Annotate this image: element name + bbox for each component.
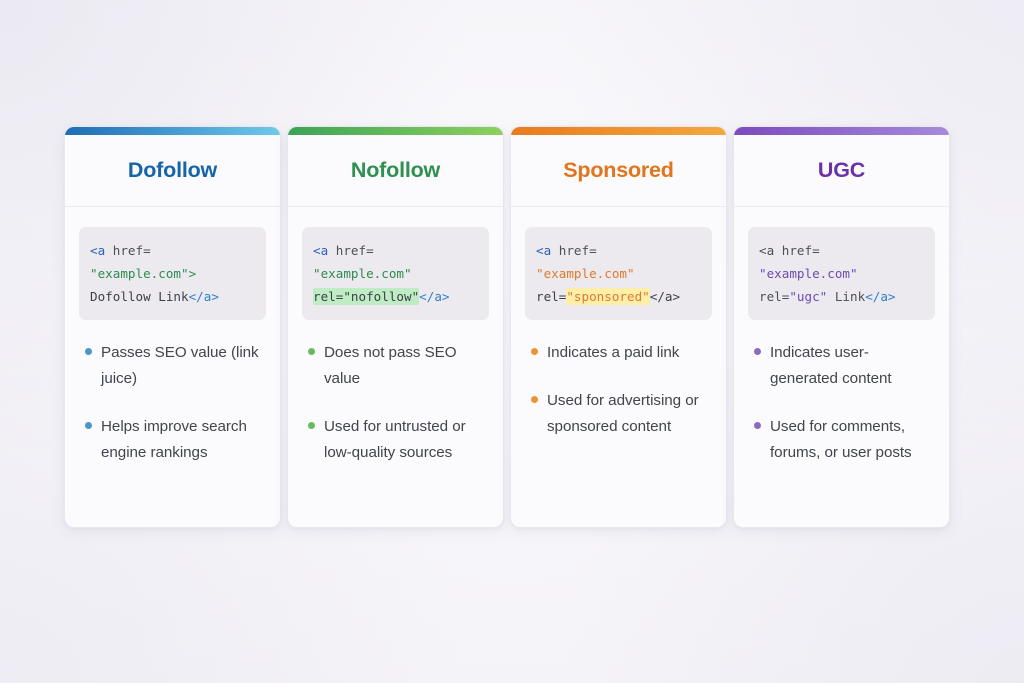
code-wrap-nofollow: <a href= "example.com"rel="nofollow"</a> xyxy=(288,207,503,336)
feature-text: Passes SEO value (link juice) xyxy=(101,340,264,392)
code-line-3: rel="sponsored"</a> xyxy=(536,285,702,308)
code-token: </a> xyxy=(189,289,219,304)
feature-list-nofollow: Does not pass SEO valueUsed for untruste… xyxy=(288,336,503,527)
feature-list-sponsored: Indicates a paid linkUsed for advertisin… xyxy=(511,336,726,527)
bullet-dot-icon xyxy=(531,396,538,403)
code-token: Dofollow Link xyxy=(90,289,189,304)
list-item: Helps improve search engine rankings xyxy=(85,414,264,466)
list-item: Indicates a paid link xyxy=(531,340,710,366)
bullet-dot-icon xyxy=(308,422,315,429)
code-line-1: <a href= xyxy=(536,239,702,262)
card-title-nofollow: Nofollow xyxy=(351,158,440,183)
link-attribute-comparison-board: Dofollow<a href= "example.com">Dofollow … xyxy=(64,126,960,528)
list-item: Passes SEO value (link juice) xyxy=(85,340,264,392)
code-snippet-sponsored: <a href= "example.com"rel="sponsored"</a… xyxy=(525,227,712,320)
code-line-3: Dofollow Link</a> xyxy=(90,285,256,308)
feature-text: Indicates user-generated content xyxy=(770,340,933,392)
code-line-1: <a href= xyxy=(759,239,925,262)
code-token: </a> xyxy=(650,289,680,304)
code-token: <a xyxy=(313,243,336,258)
card-header-dofollow: Dofollow xyxy=(65,135,280,207)
card-header-ugc: UGC xyxy=(734,135,949,207)
bullet-dot-icon xyxy=(754,422,761,429)
code-line-3: rel="nofollow"</a> xyxy=(313,285,479,308)
accent-bar-sponsored xyxy=(511,127,726,135)
accent-bar-nofollow xyxy=(288,127,503,135)
feature-text: Helps improve search engine rankings xyxy=(101,414,264,466)
list-item: Does not pass SEO value xyxy=(308,340,487,392)
code-token: Link xyxy=(827,289,865,304)
list-item: Used for advertising or sponsored conten… xyxy=(531,388,710,440)
code-line-1: <a href= xyxy=(313,239,479,262)
bullet-dot-icon xyxy=(85,422,92,429)
bullet-dot-icon xyxy=(85,348,92,355)
feature-text: Does not pass SEO value xyxy=(324,340,487,392)
card-dofollow: Dofollow<a href= "example.com">Dofollow … xyxy=(64,126,281,528)
card-nofollow: Nofollow<a href= "example.com"rel="nofol… xyxy=(287,126,504,528)
accent-bar-ugc xyxy=(734,127,949,135)
code-wrap-dofollow: <a href= "example.com">Dofollow Link</a> xyxy=(65,207,280,336)
code-token: href= xyxy=(113,243,151,258)
code-token: "example.com" xyxy=(313,266,412,281)
code-token: </a> xyxy=(865,289,895,304)
list-item: Used for untrusted or low-quality source… xyxy=(308,414,487,466)
card-header-nofollow: Nofollow xyxy=(288,135,503,207)
code-token: rel= xyxy=(536,289,566,304)
code-token: href= xyxy=(336,243,374,258)
bullet-dot-icon xyxy=(531,348,538,355)
code-line-1: <a href= xyxy=(90,239,256,262)
code-token: "ugc" xyxy=(789,289,827,304)
code-snippet-nofollow: <a href= "example.com"rel="nofollow"</a> xyxy=(302,227,489,320)
bullet-dot-icon xyxy=(308,348,315,355)
code-line-2: "example.com" xyxy=(313,262,479,285)
code-token: <a xyxy=(536,243,559,258)
feature-text: Used for advertising or sponsored conten… xyxy=(547,388,710,440)
code-token: "example.com" xyxy=(759,266,858,281)
feature-text: Indicates a paid link xyxy=(547,340,679,366)
accent-bar-dofollow xyxy=(65,127,280,135)
bullet-dot-icon xyxy=(754,348,761,355)
code-token: "sponsored" xyxy=(566,288,649,305)
code-token: </a> xyxy=(419,289,449,304)
code-token: <a href= xyxy=(759,243,820,258)
code-line-2: "example.com" xyxy=(759,262,925,285)
card-title-dofollow: Dofollow xyxy=(128,158,217,183)
code-snippet-ugc: <a href= "example.com"rel="ugc" Link</a> xyxy=(748,227,935,320)
card-sponsored: Sponsored<a href= "example.com"rel="spon… xyxy=(510,126,727,528)
code-line-2: "example.com"> xyxy=(90,262,256,285)
card-title-ugc: UGC xyxy=(818,158,865,183)
code-token: <a xyxy=(90,243,113,258)
code-line-2: "example.com" xyxy=(536,262,702,285)
feature-text: Used for untrusted or low-quality source… xyxy=(324,414,487,466)
code-line-3: rel="ugc" Link</a> xyxy=(759,285,925,308)
code-token: href= xyxy=(559,243,597,258)
code-token: rel= xyxy=(759,289,789,304)
code-snippet-dofollow: <a href= "example.com">Dofollow Link</a> xyxy=(79,227,266,320)
card-title-sponsored: Sponsored xyxy=(563,158,674,183)
code-wrap-ugc: <a href= "example.com"rel="ugc" Link</a> xyxy=(734,207,949,336)
code-token: "example.com"> xyxy=(90,266,196,281)
list-item: Used for comments, forums, or user posts xyxy=(754,414,933,466)
card-ugc: UGC<a href= "example.com"rel="ugc" Link<… xyxy=(733,126,950,528)
feature-list-dofollow: Passes SEO value (link juice)Helps impro… xyxy=(65,336,280,527)
list-item: Indicates user-generated content xyxy=(754,340,933,392)
code-token: "example.com" xyxy=(536,266,635,281)
code-token: rel="nofollow" xyxy=(313,288,419,305)
card-header-sponsored: Sponsored xyxy=(511,135,726,207)
feature-text: Used for comments, forums, or user posts xyxy=(770,414,933,466)
code-wrap-sponsored: <a href= "example.com"rel="sponsored"</a… xyxy=(511,207,726,336)
feature-list-ugc: Indicates user-generated contentUsed for… xyxy=(734,336,949,527)
